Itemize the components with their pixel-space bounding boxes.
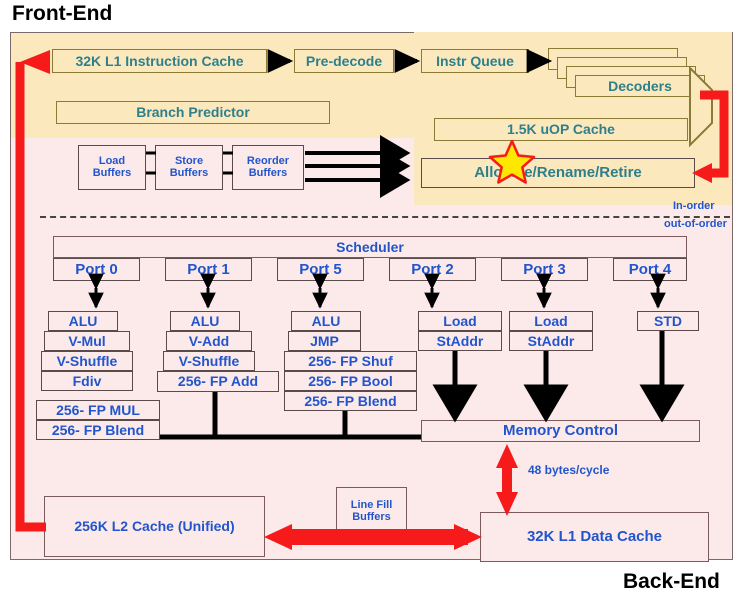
exec-unit-port5-alu[interactable]: ALU — [291, 311, 361, 331]
store-buffers-label-line1: Store — [175, 156, 203, 168]
page-title-front-end: Front-End — [12, 2, 112, 26]
exec-unit-port3-load[interactable]: Load — [509, 311, 593, 331]
exec-unit-port4-std[interactable]: STD — [637, 311, 699, 331]
store-buffers-label-line2: Buffers — [170, 168, 209, 180]
exec-unit-port0-fpmul[interactable]: 256- FP MUL — [36, 400, 160, 420]
decoders-box[interactable]: Decoders — [575, 75, 705, 97]
exec-unit-port0-alu[interactable]: ALU — [48, 311, 118, 331]
load-buffers-box[interactable]: Load Buffers — [78, 145, 146, 190]
line-fill-buffers-box[interactable]: Line Fill Buffers — [336, 487, 407, 537]
port-4-box[interactable]: Port 4 — [613, 258, 687, 281]
instr-queue-box[interactable]: Instr Queue — [421, 49, 529, 73]
port-5-box[interactable]: Port 5 — [277, 258, 364, 281]
load-buffers-label-line2: Buffers — [93, 168, 132, 180]
exec-unit-port1-alu[interactable]: ALU — [170, 311, 240, 331]
uop-cache-box[interactable]: 1.5K uOP Cache — [434, 118, 688, 141]
microarchitecture-diagram: Front-End Back-End 32K L1 Instruction Ca… — [0, 0, 751, 605]
allocate-rename-retire-box[interactable]: Allocate/Rename/Retire — [421, 158, 695, 188]
reorder-buffers-box[interactable]: Reorder Buffers — [232, 145, 304, 190]
port-1-box[interactable]: Port 1 — [165, 258, 252, 281]
port-2-box[interactable]: Port 2 — [389, 258, 476, 281]
l1-instruction-cache-box[interactable]: 32K L1 Instruction Cache — [52, 49, 267, 73]
l2-cache-box[interactable]: 256K L2 Cache (Unified) — [44, 496, 265, 557]
out-of-order-label: out-of-order — [664, 218, 727, 230]
reorder-buffers-label-line2: Buffers — [249, 168, 288, 180]
exec-unit-port0-vmul[interactable]: V-Mul — [44, 331, 130, 351]
reorder-buffers-label-line1: Reorder — [247, 156, 289, 168]
port-0-box[interactable]: Port 0 — [53, 258, 140, 281]
exec-unit-port0-vshuffle[interactable]: V-Shuffle — [41, 351, 133, 371]
scheduler-box[interactable]: Scheduler — [53, 236, 687, 258]
memory-control-box[interactable]: Memory Control — [421, 420, 700, 442]
exec-unit-port5-fpshuf[interactable]: 256- FP Shuf — [284, 351, 417, 371]
exec-unit-port5-fpblend[interactable]: 256- FP Blend — [284, 391, 417, 411]
exec-unit-port2-staddr[interactable]: StAddr — [418, 331, 502, 351]
exec-unit-port5-jmp[interactable]: JMP — [288, 331, 361, 351]
exec-unit-port0-fdiv[interactable]: Fdiv — [41, 371, 133, 391]
branch-predictor-box[interactable]: Branch Predictor — [56, 101, 330, 124]
in-order-label: In-order — [673, 200, 715, 212]
exec-unit-port2-load[interactable]: Load — [418, 311, 502, 331]
exec-unit-port1-vadd[interactable]: V-Add — [166, 331, 252, 351]
l1-data-cache-box[interactable]: 32K L1 Data Cache — [480, 512, 709, 562]
pre-decode-box[interactable]: Pre-decode — [294, 49, 394, 73]
port-3-box[interactable]: Port 3 — [501, 258, 588, 281]
exec-unit-port1-fpadd[interactable]: 256- FP Add — [157, 371, 279, 392]
inorder-outoforder-separator — [40, 216, 730, 218]
exec-unit-port5-fpbool[interactable]: 256- FP Bool — [284, 371, 417, 391]
load-buffers-label-line1: Load — [99, 156, 125, 168]
line-fill-buffers-label-line2: Buffers — [352, 512, 391, 524]
exec-unit-port3-staddr[interactable]: StAddr — [509, 331, 593, 351]
store-buffers-box[interactable]: Store Buffers — [155, 145, 223, 190]
page-title-back-end: Back-End — [623, 570, 720, 594]
exec-unit-port1-vshuffle[interactable]: V-Shuffle — [163, 351, 255, 371]
bandwidth-label: 48 bytes/cycle — [528, 463, 609, 477]
exec-unit-port0-fpblend[interactable]: 256- FP Blend — [36, 420, 160, 440]
